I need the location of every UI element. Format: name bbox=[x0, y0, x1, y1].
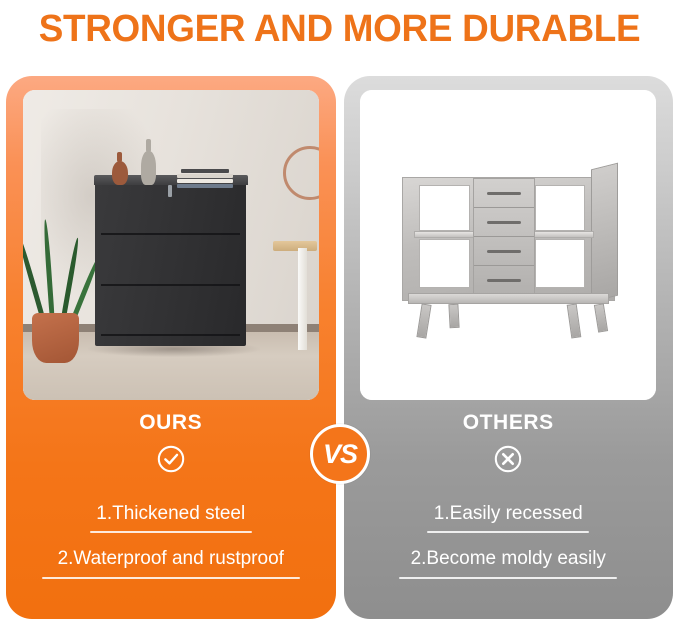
sideboard-leg bbox=[417, 303, 432, 338]
metal-file-cabinet bbox=[95, 185, 246, 346]
feature-text: 2.Become moldy easily bbox=[411, 548, 606, 570]
feature-item: 1.Easily recessed bbox=[358, 503, 660, 533]
drawer-divider bbox=[101, 334, 240, 336]
drawer bbox=[474, 266, 534, 295]
feature-item: 1.Thickened steel bbox=[20, 503, 322, 533]
vs-badge: VS bbox=[310, 424, 370, 484]
wooden-sideboard-image bbox=[360, 90, 656, 400]
shelf-board bbox=[414, 231, 479, 238]
feature-underline bbox=[399, 577, 617, 579]
shelf-board bbox=[529, 231, 594, 238]
feature-item: 2.Become moldy easily bbox=[358, 548, 660, 578]
feature-underline bbox=[427, 531, 589, 533]
side-table-top bbox=[273, 241, 317, 251]
feature-text: 1.Easily recessed bbox=[434, 503, 583, 525]
feature-list-others: 1.Easily recessed 2.Become moldy easily bbox=[344, 503, 674, 579]
drawer-divider bbox=[101, 233, 240, 235]
sideboard-leg bbox=[567, 303, 582, 338]
product-photo-others bbox=[360, 90, 656, 400]
vs-badge-label: VS bbox=[323, 441, 357, 468]
open-shelf-cavity bbox=[535, 185, 585, 232]
panel-label-others: OTHERS bbox=[463, 412, 554, 433]
drawer bbox=[474, 208, 534, 237]
cabinet-lock-icon bbox=[168, 185, 172, 197]
decor-vase bbox=[112, 161, 128, 185]
check-circle-icon bbox=[156, 444, 186, 474]
panel-ours: OURS 1.Thickened steel 2.Waterproof and … bbox=[6, 76, 336, 619]
feature-item: 2.Waterproof and rustproof bbox=[20, 548, 322, 578]
drawer-divider bbox=[101, 284, 240, 286]
product-photo-ours bbox=[23, 90, 319, 400]
drawer bbox=[474, 179, 534, 208]
feature-underline bbox=[42, 577, 300, 579]
feature-text: 2.Waterproof and rustproof bbox=[58, 548, 284, 570]
side-table-leg bbox=[298, 248, 307, 350]
open-shelf-cavity bbox=[419, 185, 469, 232]
feature-underline bbox=[90, 531, 252, 533]
sideboard-leg bbox=[594, 303, 608, 332]
sideboard-leg bbox=[448, 304, 459, 328]
page-title: STRONGER AND MORE DURABLE bbox=[10, 0, 669, 58]
decor-books bbox=[177, 169, 233, 185]
x-circle-icon bbox=[493, 444, 523, 474]
sideboard-side-panel bbox=[591, 163, 618, 303]
open-shelf-cavity bbox=[535, 239, 585, 289]
decor-vase bbox=[141, 151, 156, 185]
sideboard-base bbox=[408, 293, 609, 304]
drawer-stack bbox=[473, 178, 535, 296]
panel-others: OTHERS 1.Easily recessed 2.Become moldy … bbox=[344, 76, 674, 619]
comparison-panels: OURS 1.Thickened steel 2.Waterproof and … bbox=[0, 76, 679, 619]
panel-label-ours: OURS bbox=[139, 412, 202, 433]
feature-list-ours: 1.Thickened steel 2.Waterproof and rustp… bbox=[6, 503, 336, 579]
feature-text: 1.Thickened steel bbox=[96, 503, 245, 525]
open-shelf-cavity bbox=[419, 239, 469, 289]
plant-pot bbox=[32, 313, 79, 363]
room-scene-image bbox=[23, 90, 319, 400]
comparison-infographic: STRONGER AND MORE DURABLE bbox=[0, 0, 679, 625]
drawer bbox=[474, 237, 534, 266]
